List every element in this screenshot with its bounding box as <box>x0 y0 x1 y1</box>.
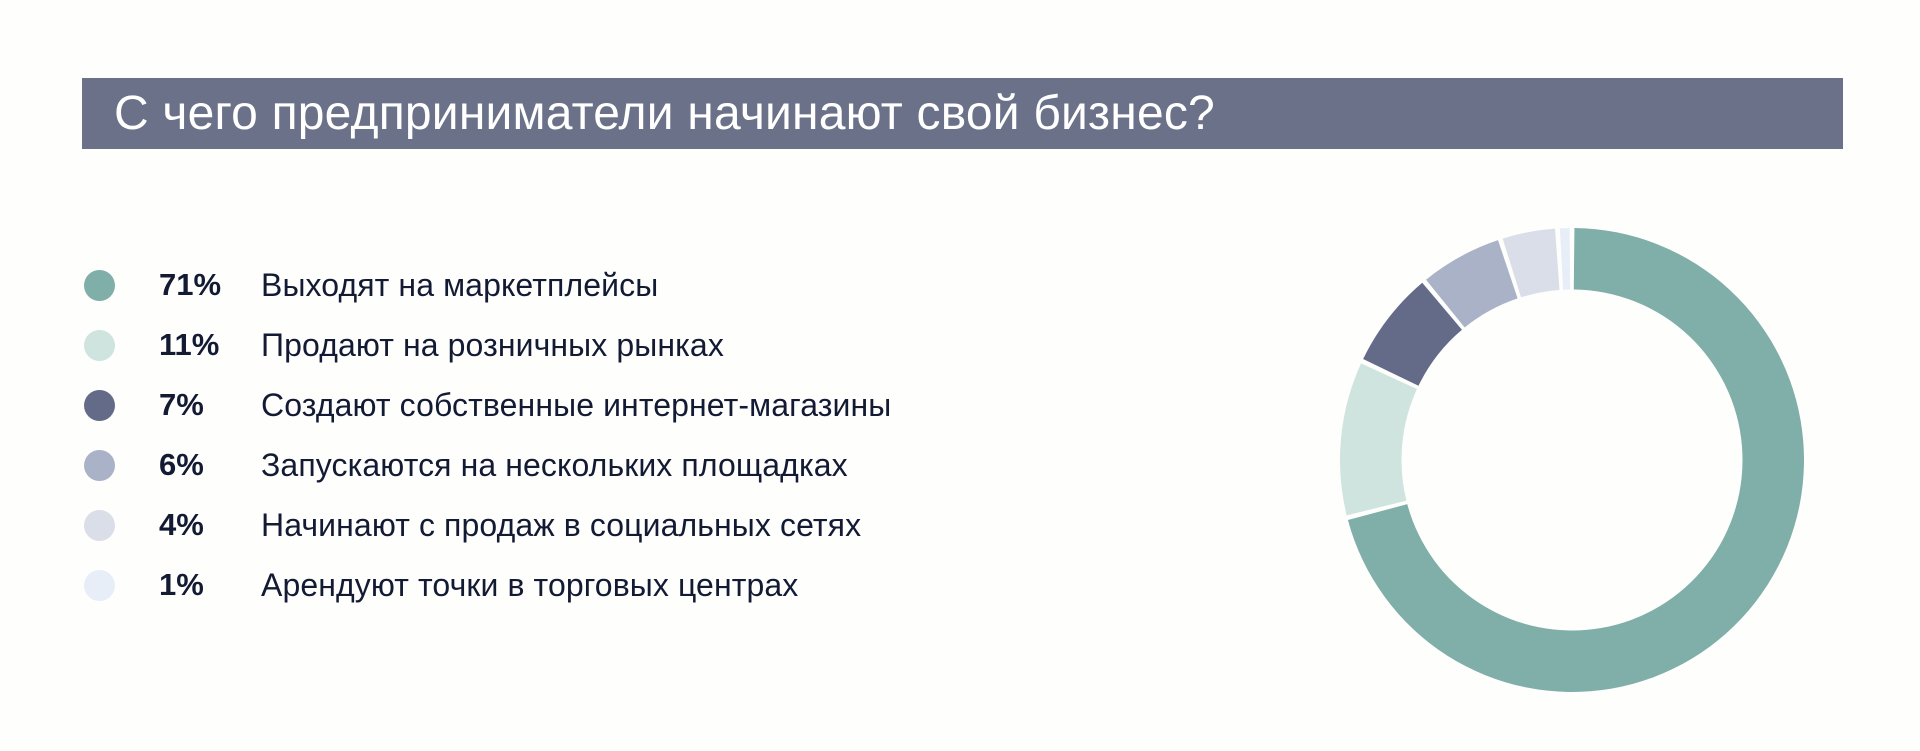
legend-color-swatch-0 <box>84 270 115 301</box>
legend-percent-2: 7% <box>159 387 261 423</box>
list-item[interactable]: 1% Арендуют точки в торговых центрах <box>70 555 1190 615</box>
list-item[interactable]: 71% Выходят на маркетплейсы <box>70 255 1190 315</box>
list-item[interactable]: 11% Продают на розничных рынках <box>70 315 1190 375</box>
legend-percent-0: 71% <box>159 267 261 303</box>
donut-slice-1[interactable] <box>1340 363 1417 515</box>
legend-label-4: Начинают с продаж в социальных сетях <box>261 507 861 544</box>
legend-color-swatch-2 <box>84 390 115 421</box>
list-item[interactable]: 6% Запускаются на нескольких площадках <box>70 435 1190 495</box>
donut-slice-5[interactable] <box>1560 228 1570 290</box>
legend-color-swatch-4 <box>84 510 115 541</box>
legend-percent-4: 4% <box>159 507 261 543</box>
page-title: С чего предприниматели начинают свой биз… <box>114 90 1215 138</box>
legend-label-2: Создают собственные интернет-магазины <box>261 387 891 424</box>
legend: 71% Выходят на маркетплейсы 11% Продают … <box>70 255 1190 615</box>
legend-color-swatch-1 <box>84 330 115 361</box>
legend-label-1: Продают на розничных рынках <box>261 327 724 364</box>
legend-label-0: Выходят на маркетплейсы <box>261 267 658 304</box>
title-banner: С чего предприниматели начинают свой биз… <box>82 78 1843 149</box>
legend-percent-1: 11% <box>159 327 261 363</box>
donut-chart-svg <box>1340 228 1804 692</box>
legend-percent-3: 6% <box>159 447 261 483</box>
list-item[interactable]: 7% Создают собственные интернет-магазины <box>70 375 1190 435</box>
legend-color-swatch-5 <box>84 570 115 601</box>
donut-chart <box>1340 228 1804 692</box>
list-item[interactable]: 4% Начинают с продаж в социальных сетях <box>70 495 1190 555</box>
legend-color-swatch-3 <box>84 450 115 481</box>
legend-percent-5: 1% <box>159 567 261 603</box>
legend-label-3: Запускаются на нескольких площадках <box>261 447 848 484</box>
legend-label-5: Арендуют точки в торговых центрах <box>261 567 798 604</box>
infographic-canvas: С чего предприниматели начинают свой биз… <box>0 0 1920 751</box>
